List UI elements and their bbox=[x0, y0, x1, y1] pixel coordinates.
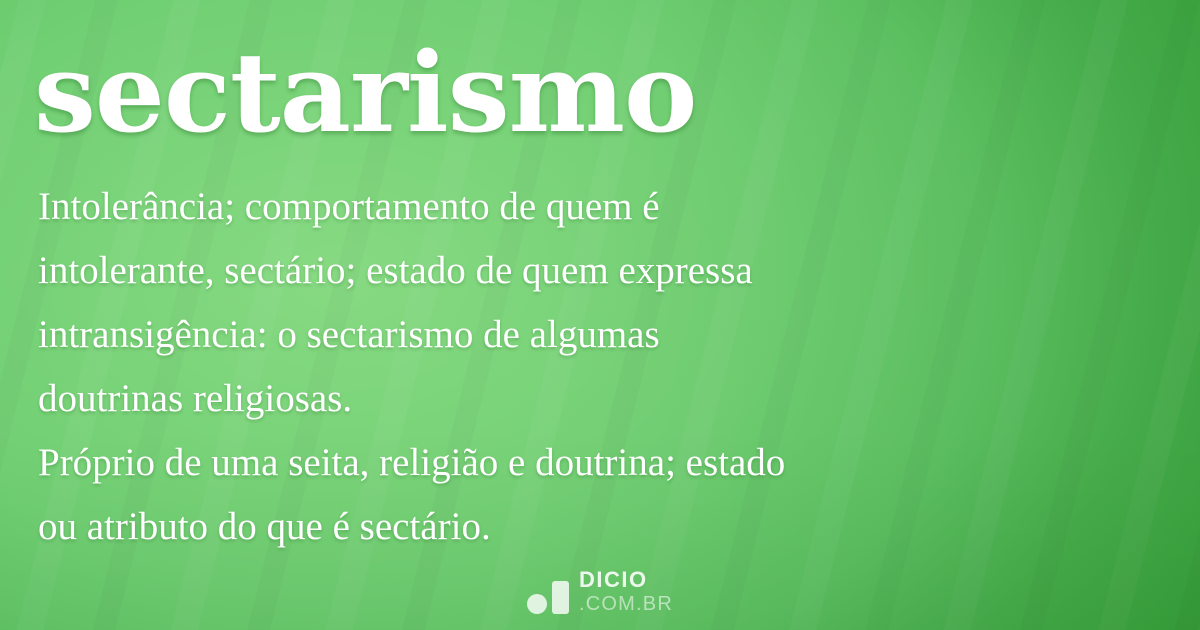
definition-line: Próprio de uma seita, religião e doutrin… bbox=[38, 432, 1176, 494]
definition-list: Intolerância; comportamento de quem é in… bbox=[38, 176, 1176, 560]
bar-icon bbox=[552, 581, 569, 614]
logo-mark bbox=[527, 580, 569, 614]
definition-line: Intolerância; comportamento de quem é bbox=[38, 176, 1176, 238]
logo-tld: .COM.BR bbox=[579, 594, 673, 614]
card-content: sectarismo Intolerância; comportamento d… bbox=[0, 0, 1200, 630]
definition-line: ou atributo do que é sectário. bbox=[38, 496, 1176, 558]
logo-wordmark: DICIO .COM.BR bbox=[579, 569, 673, 614]
logo-name: DICIO bbox=[579, 569, 673, 591]
definition-line: intolerante, sectário; estado de quem ex… bbox=[38, 240, 1176, 302]
site-logo: DICIO .COM.BR bbox=[0, 569, 1200, 614]
definition-line: intransigência: o sectarismo de algumas bbox=[38, 304, 1176, 366]
circle-icon bbox=[527, 594, 547, 614]
page-title: sectarismo bbox=[34, 38, 696, 148]
dictionary-share-card: sectarismo Intolerância; comportamento d… bbox=[0, 0, 1200, 630]
definition-line: doutrinas religiosas. bbox=[38, 368, 1176, 430]
